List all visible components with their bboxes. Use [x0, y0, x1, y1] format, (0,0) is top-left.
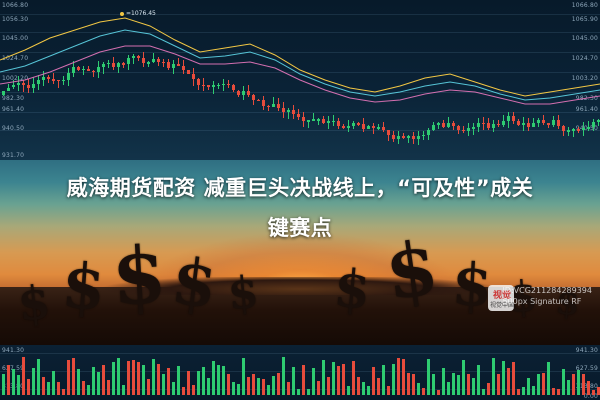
dollar-sign-icon: $	[332, 263, 373, 318]
watermark-text: ID:VCG211284289394 500px Signature RF	[502, 285, 592, 307]
headline-text: 威海期货配资 减重巨头决战线上，“可及性”成关 键赛点	[0, 168, 600, 248]
volume-bar-series	[0, 345, 600, 400]
moving-average-lines	[0, 0, 600, 160]
dollar-sign-icon: $	[60, 255, 107, 320]
top-candlestick-chart: 1066.80 1056.30 1045.00 1024.70 1002.20 …	[0, 0, 600, 160]
ma-line-magenta	[0, 46, 600, 104]
dollar-sign-icon: $	[16, 278, 53, 327]
dollar-sign-icon: $	[168, 250, 220, 319]
watermark-id: ID:VCG211284289394	[502, 285, 592, 296]
dollar-sign-icon: $	[110, 237, 168, 318]
dollar-sign-icon: $	[226, 271, 260, 318]
headline-line-1: 威海期货配资 减重巨头决战线上，“可及性”成关	[0, 168, 600, 208]
bottom-volume-chart: 941.30 627.59 313.80 941.30 627.59 313.8…	[0, 345, 600, 400]
watermark-license: 500px Signature RF	[502, 296, 592, 307]
ma-line-yellow	[0, 18, 600, 96]
headline-line-2: 键赛点	[0, 208, 600, 248]
ma-line-cyan	[0, 30, 600, 100]
image-canvas: 1066.80 1056.30 1045.00 1024.70 1002.20 …	[0, 0, 600, 400]
